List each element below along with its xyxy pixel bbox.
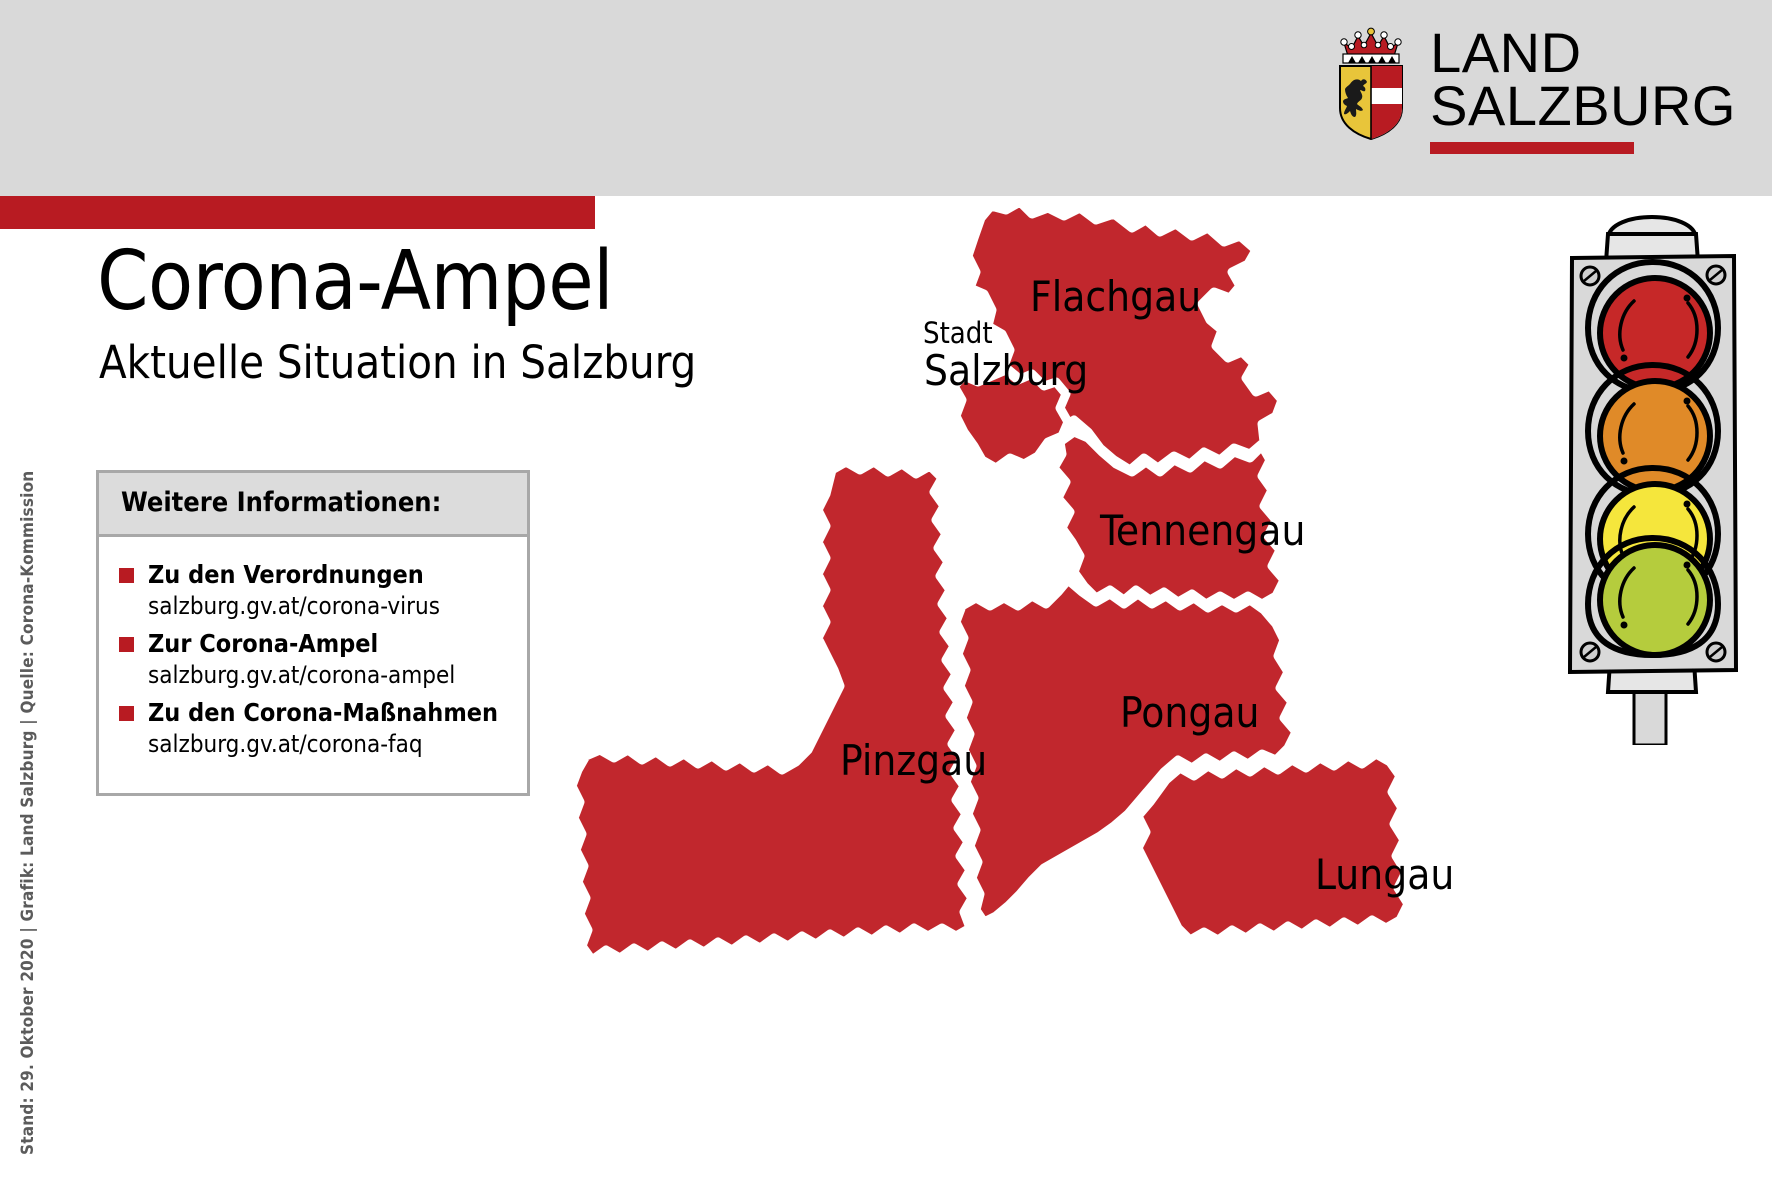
screw-icon <box>1707 643 1725 661</box>
further-information-box: Weitere Informationen: Zu den Verordnung… <box>96 470 530 796</box>
logo-line-land: LAND <box>1430 26 1736 79</box>
logo-underline-rule <box>1430 142 1634 154</box>
link-title[interactable]: Zu den Corona-Maßnahmen <box>148 697 498 729</box>
poster-root: LAND SALZBURG Corona-Ampel Aktuelle Situ… <box>0 0 1772 1181</box>
region-lungau[interactable] <box>1138 754 1408 940</box>
screw-icon <box>1581 267 1599 285</box>
map-svg <box>540 180 1440 1040</box>
link-title[interactable]: Zu den Verordnungen <box>148 559 440 591</box>
region-stadt-salzburg[interactable] <box>954 370 1068 468</box>
infobox-heading: Weitere Informationen: <box>99 473 527 537</box>
link-url[interactable]: salzburg.gv.at/corona-virus <box>148 591 440 622</box>
square-bullet-icon <box>119 568 134 583</box>
page-title: Corona-Ampel <box>97 234 613 329</box>
logo-line-salzburg: SALZBURG <box>1430 79 1736 132</box>
list-item[interactable]: Zur Corona-Ampel salzburg.gv.at/corona-a… <box>119 628 509 691</box>
credit-line: Stand: 29. Oktober 2020 | Grafik: Land S… <box>18 471 38 1155</box>
square-bullet-icon <box>119 706 134 721</box>
link-url[interactable]: salzburg.gv.at/corona-ampel <box>148 660 455 691</box>
list-item[interactable]: Zu den Verordnungen salzburg.gv.at/coron… <box>119 559 509 622</box>
traffic-light-svg <box>1548 200 1758 745</box>
land-salzburg-logo: LAND SALZBURG <box>1334 26 1736 154</box>
red-lamp[interactable] <box>1588 262 1718 392</box>
screw-icon <box>1707 266 1725 284</box>
region-pinzgau[interactable] <box>572 462 972 960</box>
link-title[interactable]: Zur Corona-Ampel <box>148 628 455 660</box>
traffic-light-graphic <box>1548 200 1758 745</box>
square-bullet-icon <box>119 637 134 652</box>
screw-icon <box>1581 643 1599 661</box>
orange-lamp[interactable] <box>1588 365 1718 495</box>
link-url[interactable]: salzburg.gv.at/corona-faq <box>148 729 498 760</box>
list-item[interactable]: Zu den Corona-Maßnahmen salzburg.gv.at/c… <box>119 697 509 760</box>
salzburg-district-map: Flachgau Stadt Salzburg Tennengau Pongau… <box>540 180 1440 1040</box>
title-accent-bar <box>0 196 595 229</box>
salzburg-coat-of-arms-icon <box>1334 26 1408 141</box>
infobox-body: Zu den Verordnungen salzburg.gv.at/coron… <box>99 537 527 793</box>
